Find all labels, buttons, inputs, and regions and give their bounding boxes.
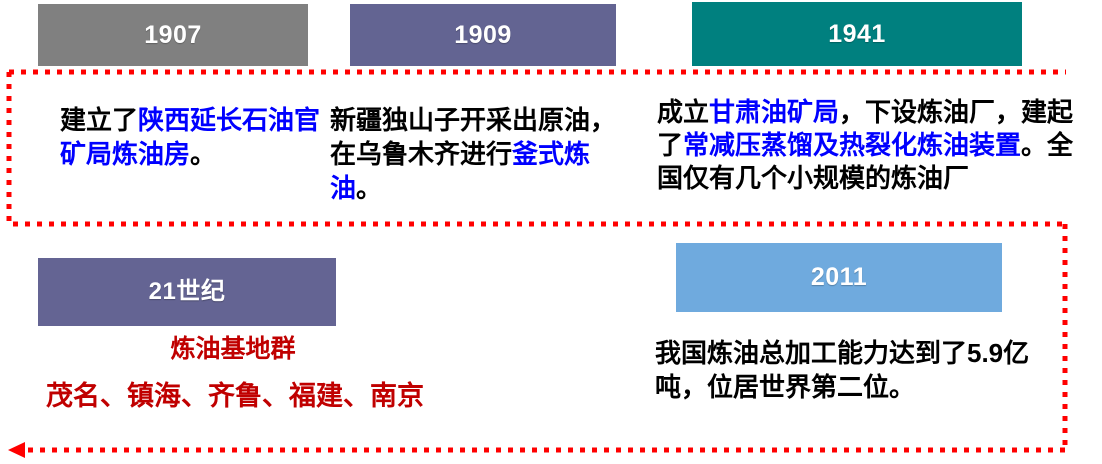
era-bar-label: 1909: [454, 23, 512, 48]
era-bar-1941[interactable]: 1941: [692, 2, 1022, 66]
era-bar-1909[interactable]: 1909: [350, 4, 616, 66]
text-run-0: 成立: [657, 97, 709, 127]
text-run-3: 常减压蒸馏及热裂化炼油装置: [683, 130, 1021, 160]
era-description-21century-heading: 炼油基地群: [38, 334, 428, 364]
text-run-0: 我国炼油总加工能力达到了5.9亿吨，位居世界第二位。: [655, 338, 1029, 402]
text-run-1: 甘肃油矿局: [709, 97, 839, 127]
era-bar-label: 1907: [144, 23, 202, 48]
text-run-0: 建立了: [60, 105, 138, 135]
text-run-2: 。: [356, 173, 382, 203]
era-bar-label: 2011: [811, 265, 867, 290]
era-description-1909: 新疆独山子开采出原油，在乌鲁木齐进行釜式炼油。: [330, 104, 630, 205]
text-run-2: 。: [190, 139, 216, 169]
era-bar-1907[interactable]: 1907: [38, 4, 308, 66]
era-description-2011: 我国炼油总加工能力达到了5.9亿吨，位居世界第二位。: [655, 337, 1055, 405]
slide-canvas: 1907 1909 1941 21世纪 2011 建立了陕西延长石油官矿局炼油房…: [0, 0, 1102, 464]
era-description-21century-list: 茂名、镇海、齐鲁、福建、南京: [20, 380, 450, 412]
era-bar-21century[interactable]: 21世纪: [38, 258, 336, 326]
era-bar-label: 1941: [828, 22, 886, 47]
era-description-1907: 建立了陕西延长石油官矿局炼油房。: [60, 104, 330, 172]
timeline-arrow-icon: [8, 442, 25, 458]
era-description-1941: 成立甘肃油矿局，下设炼油厂，建起了常减压蒸馏及热裂化炼油装置。全国仅有几个小规模…: [657, 96, 1081, 194]
era-bar-2011[interactable]: 2011: [676, 243, 1002, 312]
era-bar-label: 21世纪: [149, 280, 226, 304]
